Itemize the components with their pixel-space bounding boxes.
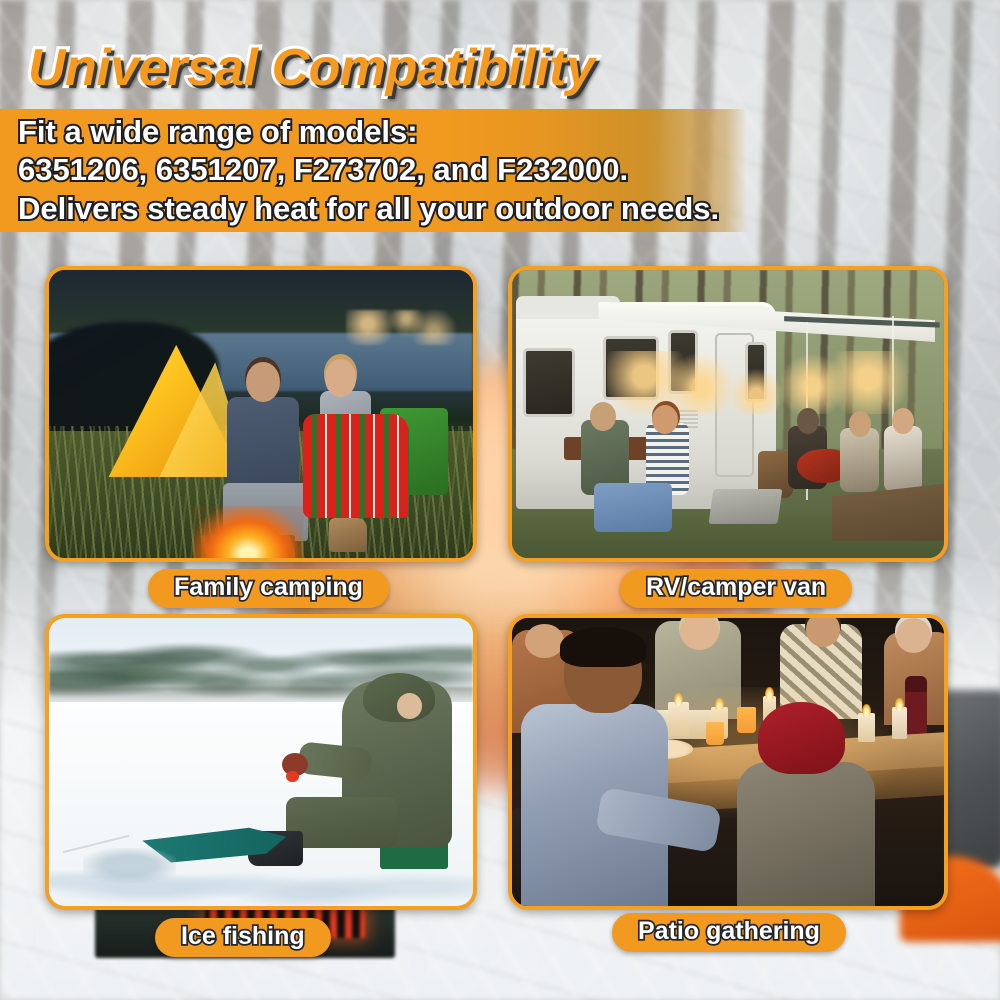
caption-patio-gathering: Patio gathering: [612, 913, 846, 952]
ice-hole: [83, 848, 176, 883]
rv-guest-2-head: [849, 411, 871, 437]
photo-patio-gathering: [512, 618, 944, 906]
patio-guest-1-head: [525, 624, 564, 659]
rv-man-head: [590, 402, 616, 431]
camp-woman-boot: [329, 518, 367, 553]
banner-line-1: Fit a wide range of models:: [18, 113, 748, 151]
ice-angler-face: [397, 693, 422, 719]
caption-family-camping: Family camping: [148, 569, 389, 608]
patio-man-hair: [560, 627, 646, 667]
use-case-card-patio-gathering[interactable]: [508, 614, 948, 910]
rv-guest-1-head: [797, 408, 819, 434]
camp-distant-lights: [346, 310, 456, 345]
photo-ice-fishing: [49, 618, 473, 906]
rv-jeans: [594, 483, 672, 532]
caption-rv-camper-van: RV/camper van: [620, 569, 852, 608]
camp-campfire: [193, 506, 303, 558]
patio-child-body: [737, 762, 875, 906]
rv-guest-3: [884, 426, 923, 492]
use-case-card-ice-fishing[interactable]: [45, 614, 477, 910]
compatibility-banner: Fit a wide range of models: 6351206, 635…: [0, 109, 748, 232]
use-case-card-family-camping[interactable]: [45, 266, 477, 562]
photo-rv-camper-van: [512, 270, 944, 558]
rv-guest-3-head: [892, 408, 914, 434]
use-case-card-rv-camper-van[interactable]: [508, 266, 948, 562]
banner-line-2: 6351206, 6351207, F273702, and F232000.: [18, 151, 748, 189]
rv-string-lights: [607, 351, 918, 414]
use-case-grid: [0, 262, 1000, 952]
patio-child-red-beanie: [758, 702, 844, 774]
photo-family-camping: [49, 270, 473, 558]
caption-ice-fishing: Ice fishing: [155, 918, 331, 957]
rv-lounger: [708, 489, 782, 524]
page-title: Universal Compatibility: [28, 38, 594, 98]
patio-guest-4-head: [896, 618, 931, 653]
camp-plaid-blanket: [303, 414, 409, 518]
rv-window-1: [523, 348, 575, 417]
camp-woman-head: [325, 359, 357, 396]
banner-line-3: Delivers steady heat for all your outdoo…: [18, 190, 748, 228]
product-infographic: Universal Compatibility Fit a wide range…: [0, 0, 1000, 1000]
camp-man-torso: [227, 397, 299, 495]
rv-guest-2: [840, 428, 879, 491]
